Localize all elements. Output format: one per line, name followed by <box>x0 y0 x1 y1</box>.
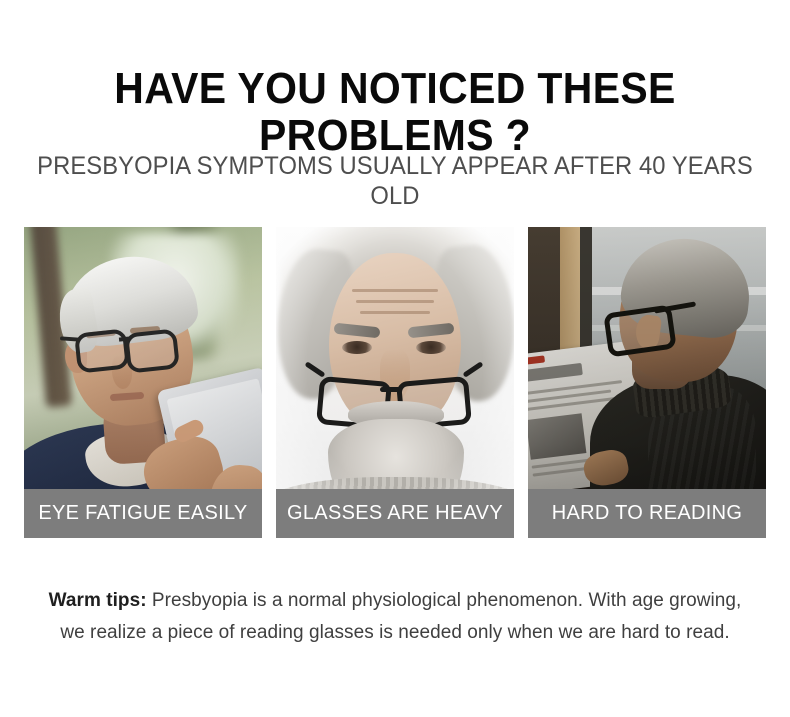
card-caption-bar: EYE FATIGUE EASILY <box>24 489 262 538</box>
presbyopia-symptoms-banner: HAVE YOU NOTICED THESE PROBLEMS ? PRESBY… <box>0 0 790 717</box>
card-caption-text: HARD TO READING <box>552 502 742 525</box>
warm-tips-line-1: Presbyopia is a normal physiological phe… <box>147 590 742 611</box>
card-caption-bar: HARD TO READING <box>528 489 766 538</box>
symptom-card-hard-to-read[interactable]: HARD TO READING <box>528 227 766 538</box>
warm-tips-label: Warm tips: <box>49 590 147 611</box>
card-caption-bar: GLASSES ARE HEAVY <box>276 489 514 538</box>
symptom-card-eye-fatigue[interactable]: EYE FATIGUE EASILY <box>24 227 262 538</box>
card-caption-text: GLASSES ARE HEAVY <box>287 502 503 525</box>
headline-line-1: HAVE YOU NOTICED THESE <box>114 64 675 113</box>
page-subtitle: PRESBYOPIA SYMPTOMS USUALLY APPEAR AFTER… <box>20 151 771 211</box>
warm-tips-line-2: we realize a piece of reading glasses is… <box>18 617 772 649</box>
warm-tips-block: Warm tips: Presbyopia is a normal physio… <box>18 585 772 649</box>
card-caption-text: EYE FATIGUE EASILY <box>38 502 247 525</box>
symptom-card-row: EYE FATIGUE EASILY <box>24 227 766 538</box>
page-title: HAVE YOU NOTICED THESE PROBLEMS ? <box>28 65 763 159</box>
symptom-card-glasses-heavy[interactable]: GLASSES ARE HEAVY <box>276 227 514 538</box>
